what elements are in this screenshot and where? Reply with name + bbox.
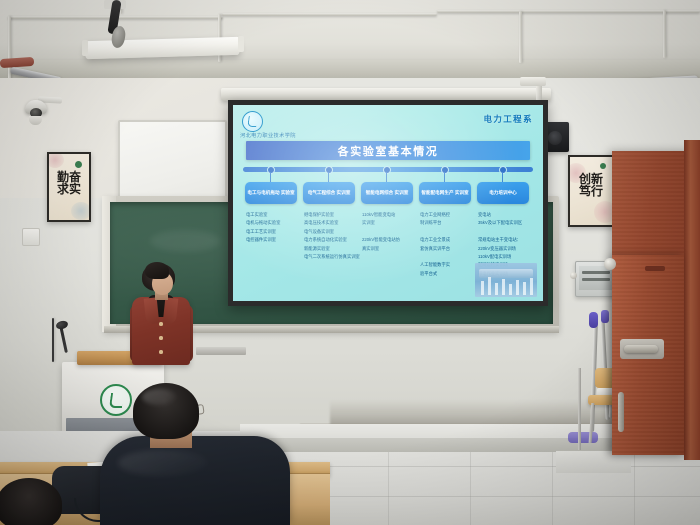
poster-blossom-decoration-3 (594, 201, 614, 223)
mop-head-1 (589, 312, 598, 328)
slide-column-heading-5: 电力培训中心 (477, 182, 529, 204)
poster-seal-left (75, 161, 82, 168)
university-seal-logo-icon (100, 384, 132, 416)
poster-right-text: 创新笃行 (578, 173, 604, 197)
poster-blossom-decoration (47, 152, 64, 168)
panel-breaker-row-2 (582, 278, 610, 281)
screen-mount-bracket (520, 77, 546, 86)
panel-breaker-row-1 (582, 271, 610, 274)
ceiling-pipe-drop-far-right (663, 10, 666, 58)
microphone-cable (52, 318, 54, 362)
presenter-button-1 (159, 322, 163, 326)
ceiling-pipe-drop-right (519, 11, 522, 63)
speaker-cone-icon (548, 131, 562, 145)
slide-department-header: 电力工程系 (483, 113, 533, 125)
timeline-node-3 (383, 166, 391, 174)
lamp-end-left (82, 40, 88, 56)
slide-title: 各实验室基本情况 (246, 141, 530, 160)
door-closer-arm (645, 266, 665, 271)
seated-person-left-head (0, 478, 62, 525)
lamp-end-right (238, 36, 244, 52)
door-handle[interactable] (624, 345, 658, 353)
slide-column-items-4: 电力工业网络控 制训练平台 电力工业全景成 套仿真实训平台 人工智能数字实 验平… (420, 211, 472, 278)
timeline-stem-4 (444, 172, 445, 182)
timeline-stem-3 (386, 172, 387, 182)
poster-left-text: 勤奋求实 (57, 171, 81, 195)
slide-institution-name: 河北电力职业技术学院 (240, 132, 296, 139)
slide-institution-logo-icon (242, 111, 263, 132)
slide-facility-photo (475, 263, 537, 297)
timeline-node-1 (267, 166, 275, 174)
slide-column-items-2: 继电保护实验室 高电压技术实验室 电气设备实训室 电力系统自动化实验室 新能源实… (304, 211, 360, 261)
presenter-hair-front (145, 262, 169, 279)
seated-man-suit-jacket (100, 436, 290, 525)
presentation-slide: 河北电力职业技术学院 电力工程系 各实验室基本情况 电工与电机拖动 实验室 电气… (233, 105, 543, 301)
stand-pole (578, 368, 581, 450)
door-frame-jamb (684, 140, 700, 460)
slide-column-heading-3: 智能电网综合 实训室 (361, 182, 413, 204)
timeline-stem-5 (502, 172, 503, 182)
timeline-node-2 (325, 166, 333, 174)
ceiling-pipe-3 (437, 10, 700, 13)
presenter-button-2 (159, 336, 163, 340)
timeline-stem-1 (270, 172, 271, 182)
classroom-photo-scene: 勤奋求实 创新笃行 河北电力职业技术学院 电力工程系 各实验室基本情况 (0, 0, 700, 525)
light-switch[interactable] (22, 228, 40, 246)
slide-title-bar: 各实验室基本情况 (246, 141, 530, 160)
suit-shoulder-highlight (118, 450, 208, 476)
poster-hanger-left (69, 152, 70, 154)
slide-column-heading-2: 电气工程综合 实训室 (303, 182, 355, 204)
door-pull-bar[interactable] (618, 392, 624, 432)
mop-head-2 (601, 310, 609, 323)
presenter-button-3 (159, 350, 163, 354)
timeline-stem-2 (328, 172, 329, 182)
timeline-node-4 (441, 166, 449, 174)
poster-wave-decoration (71, 202, 91, 220)
ceiling-pipe-2 (222, 13, 437, 16)
timeline-node-5 (499, 166, 507, 174)
podium-equipment (196, 347, 246, 355)
hair-highlight (142, 389, 176, 405)
door-knob-icon[interactable] (604, 258, 616, 270)
poster-seal-right (600, 163, 606, 169)
slide-column-items-3: 110kV智能变电站 实训室 220kV智能变电站仿 真实训室 (362, 211, 416, 253)
calligraphy-poster-right: 创新笃行 (568, 155, 614, 227)
slide-column-heading-4: 智能配电网生产 实训室 (419, 182, 471, 204)
poster-hanger-right (591, 155, 592, 157)
slide-column-heading-1: 电工与电机拖动 实验室 (245, 182, 297, 204)
panel-lock-icon[interactable] (570, 272, 577, 279)
presenter-lapel-left (144, 297, 160, 324)
calligraphy-poster-left: 勤奋求实 (47, 152, 91, 222)
slide-column-items-1: 电工实验室 电机与拖动实验室 电工工艺实训室 电控器件实训室 (246, 211, 300, 245)
mop-cloth (568, 432, 598, 443)
